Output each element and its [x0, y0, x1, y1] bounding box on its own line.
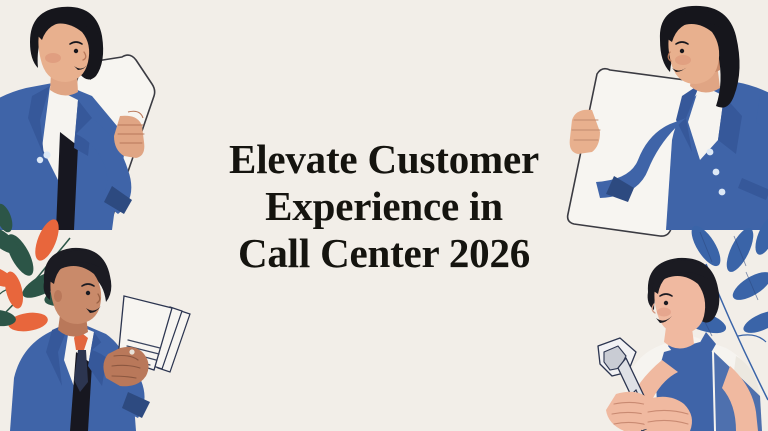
promo-slide: Elevate Customer Experience in Call Cent… — [0, 0, 768, 431]
illustration-artwork — [0, 0, 768, 431]
